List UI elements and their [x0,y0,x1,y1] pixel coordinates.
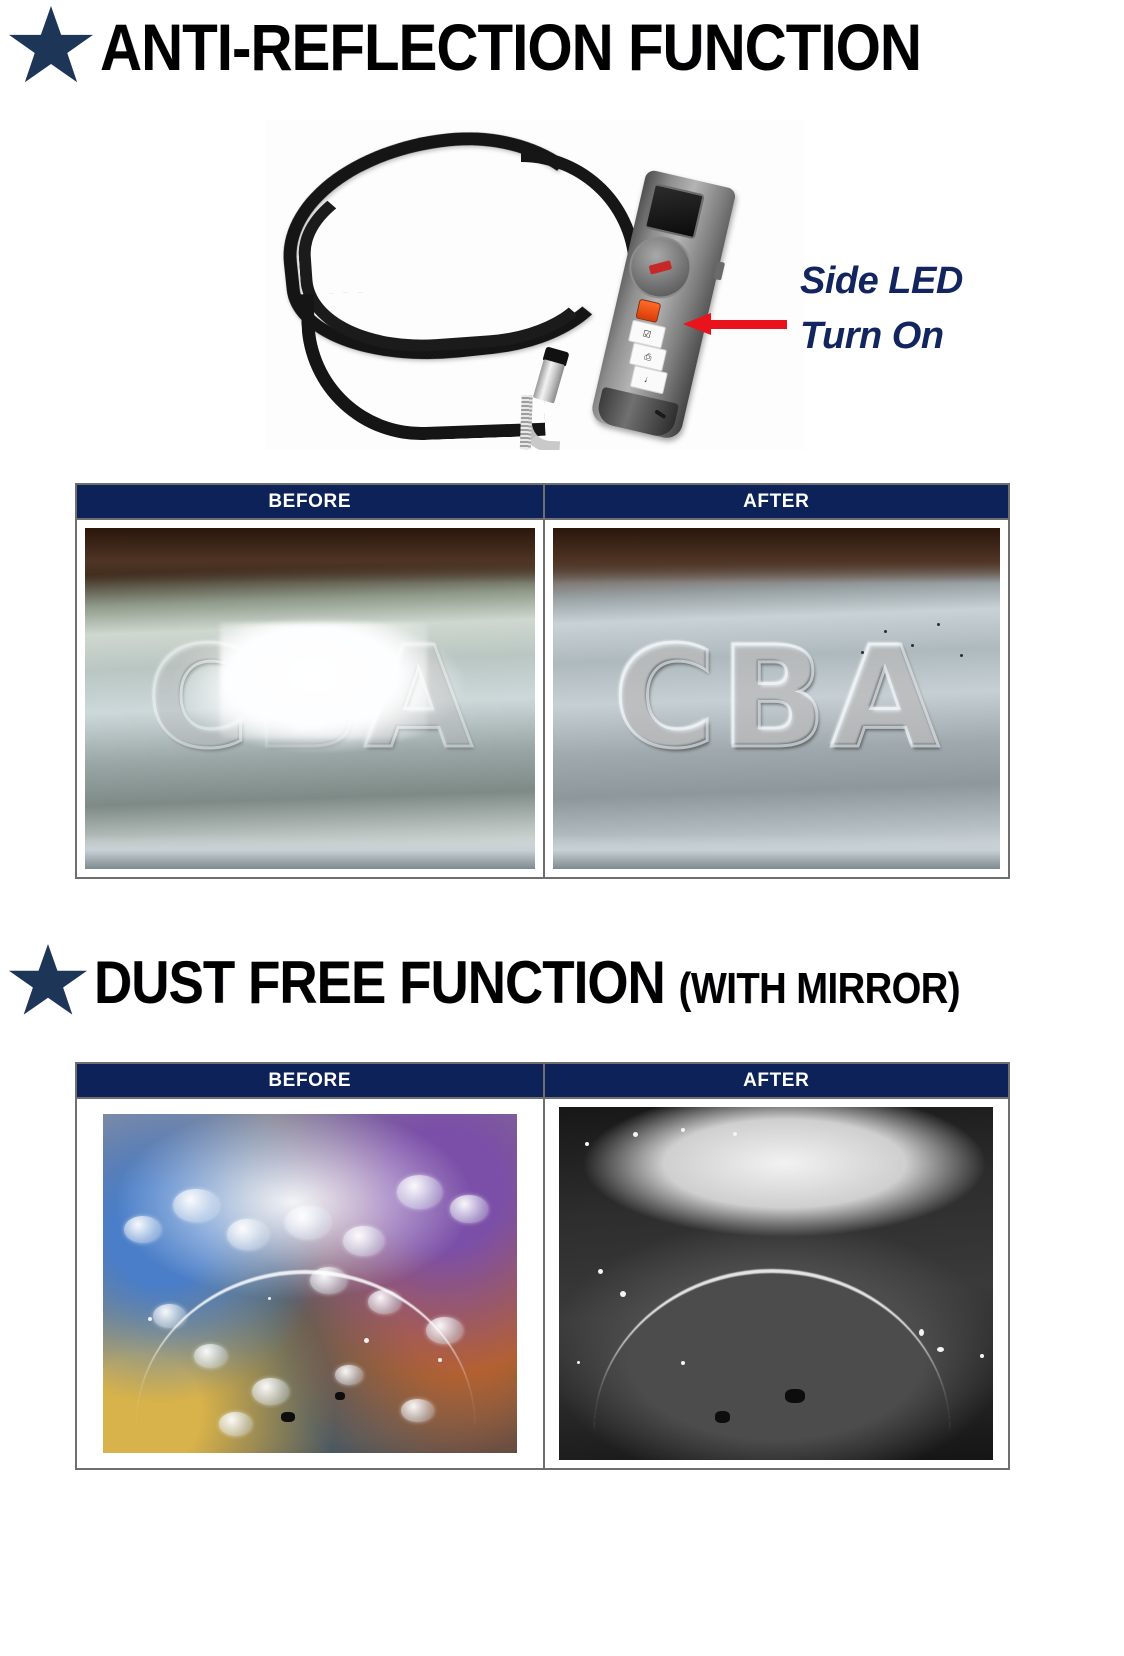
image-bottom-band [553,835,1001,869]
section-heading-anti-reflection: ANTI-REFLECTION FUNCTION [8,6,1033,88]
embossed-letter-b: B [720,629,827,769]
before-cell-dust [77,1099,543,1468]
section-title-main: ANTI-REFLECTION FUNCTION [100,10,921,84]
glare-reflection [220,623,427,739]
callout-line-2: Turn On [800,311,963,362]
after-cell-chrome: C B A [543,520,1009,877]
embossed-letter-c: C [613,629,716,769]
column-header-after: AFTER [543,485,1009,518]
after-image-chrome-clear: C B A [553,528,1001,869]
side-led-callout: Side LED Turn On [800,256,963,363]
component-rim [594,1269,950,1431]
comparison-image-row: C B A C B A [77,518,1008,877]
comparison-table-anti-reflection: BEFORE AFTER C B A [75,483,1010,879]
star-icon [8,944,88,1020]
star-icon [8,6,94,88]
borescope-photo: ☑ ⎙ ♩ ↵ [265,120,805,450]
column-header-after: AFTER [543,1064,1009,1097]
left-arrow-icon [683,313,787,335]
image-bottom-band [85,835,535,869]
comparison-header-row: BEFORE AFTER [77,485,1008,518]
arrow-shaft [709,320,787,329]
before-image-chrome-glare: C B A [85,528,535,869]
callout-line-1: Side LED [800,256,963,307]
arrow-head [683,313,711,335]
document-page: ANTI-REFLECTION FUNCTION ☑ ⎙ ♩ [0,0,1124,1656]
column-header-before: BEFORE [77,1064,543,1097]
comparison-header-row: BEFORE AFTER [77,1064,1008,1097]
embossed-letters: C B A [553,528,1001,869]
tip-flex-gooseneck [520,397,562,450]
before-cell-chrome: C B A [77,520,543,877]
cable-lower-run [300,286,545,444]
comparison-image-row [77,1097,1008,1468]
column-header-before: BEFORE [77,485,543,518]
embossed-letter-a: A [831,629,939,769]
cable-upper-run [521,150,641,280]
after-cell-dust [543,1099,1009,1468]
section-title-main: DUST FREE FUNCTION [94,949,679,1016]
section-title-text: ANTI-REFLECTION FUNCTION [100,16,921,79]
before-image-dusty-lens [103,1114,517,1453]
section-heading-dust-free: DUST FREE FUNCTION (WITH MIRROR) [8,944,1078,1020]
borescope-photo-block: ☑ ⎙ ♩ ↵ [265,120,805,450]
component-rim [136,1270,475,1426]
section-title-text: DUST FREE FUNCTION (WITH MIRROR) [94,954,960,1011]
comparison-table-dust-free: BEFORE AFTER [75,1062,1010,1470]
section-title-suffix: (WITH MIRROR) [679,965,960,1013]
after-image-clean-lens [559,1107,993,1460]
